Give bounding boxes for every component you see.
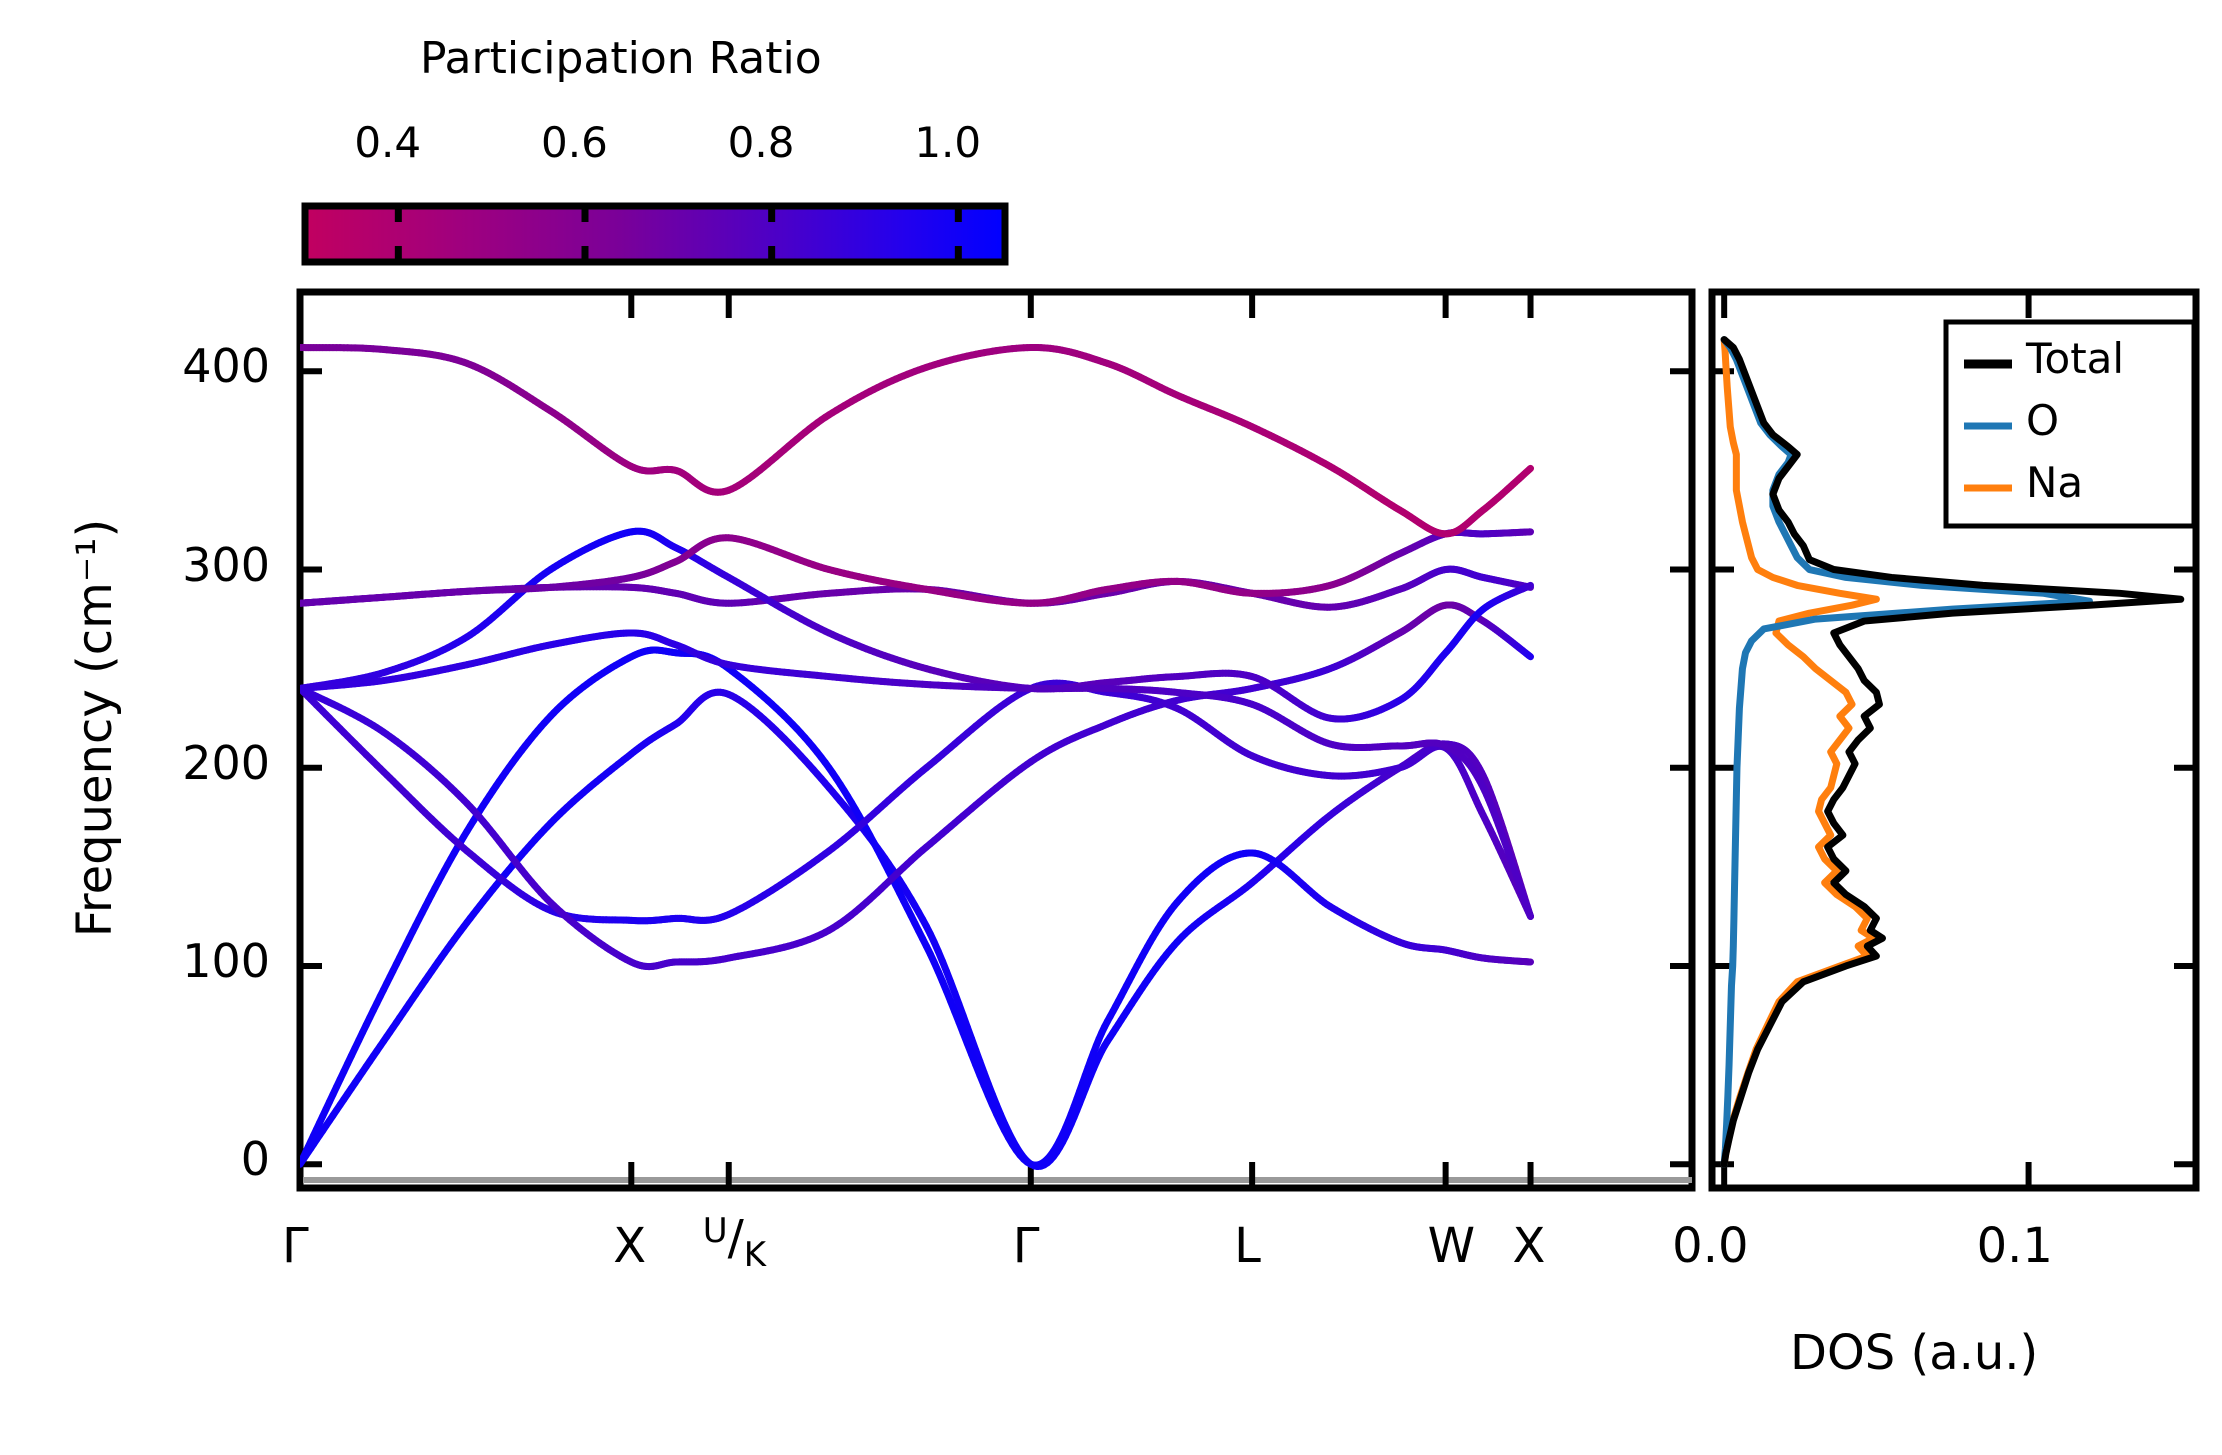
dos-x-tick-label-0: 0.0 bbox=[1672, 1218, 1748, 1274]
uk-numerator: U bbox=[703, 1211, 728, 1251]
uk-slash: / bbox=[728, 1210, 744, 1266]
colorbar-tick-label-1: 0.6 bbox=[541, 118, 608, 167]
band-y-tick-label-0: 0 bbox=[120, 1132, 270, 1186]
band-x-tick-label-gamma1: Γ bbox=[282, 1218, 309, 1274]
frequency-axis-label: Frequency (cm⁻¹) bbox=[67, 478, 123, 978]
band-x-tick-label-gamma2: Γ bbox=[1013, 1218, 1040, 1274]
band-y-tick-label-1: 100 bbox=[120, 934, 270, 988]
figure-root: Participation Ratio 0.4 0.6 0.8 1.0 Freq… bbox=[0, 0, 2222, 1455]
band-x-tick-label-uk: U/K bbox=[703, 1210, 766, 1266]
dos-x-tick-label-1: 0.1 bbox=[1977, 1218, 2053, 1274]
plot-canvas bbox=[0, 0, 2222, 1455]
band-x-ticks bbox=[300, 292, 1531, 1188]
band-y-tick-label-3: 300 bbox=[120, 538, 270, 592]
legend-label-o: O bbox=[2026, 396, 2059, 445]
band-x-tick-label-x1: X bbox=[613, 1218, 646, 1274]
band-panel-frame bbox=[300, 292, 1692, 1188]
phonon-band-curves bbox=[300, 347, 1531, 1166]
band-y-tick-label-4: 400 bbox=[120, 339, 270, 393]
colorbar-tick-label-0: 0.4 bbox=[354, 118, 421, 167]
band-y-tick-label-2: 200 bbox=[120, 736, 270, 790]
band-x-tick-label-l: L bbox=[1234, 1218, 1261, 1274]
colorbar-title: Participation Ratio bbox=[420, 33, 822, 84]
band-x-tick-label-w: W bbox=[1428, 1218, 1475, 1274]
legend-label-total: Total bbox=[2026, 334, 2124, 383]
colorbar-tick-label-3: 1.0 bbox=[914, 118, 981, 167]
band-curve bbox=[300, 532, 1531, 603]
dos-axis-label: DOS (a.u.) bbox=[1790, 1325, 2038, 1381]
band-curve bbox=[300, 531, 1531, 719]
legend-label-na: Na bbox=[2026, 458, 2083, 507]
band-x-tick-label-x2: X bbox=[1513, 1218, 1546, 1274]
colorbar-tick-label-2: 0.8 bbox=[728, 118, 795, 167]
band-curve bbox=[300, 347, 1531, 533]
colorbar-gradient bbox=[305, 206, 1005, 262]
uk-denominator: K bbox=[744, 1235, 766, 1275]
dos-series-na bbox=[1724, 340, 1876, 1165]
